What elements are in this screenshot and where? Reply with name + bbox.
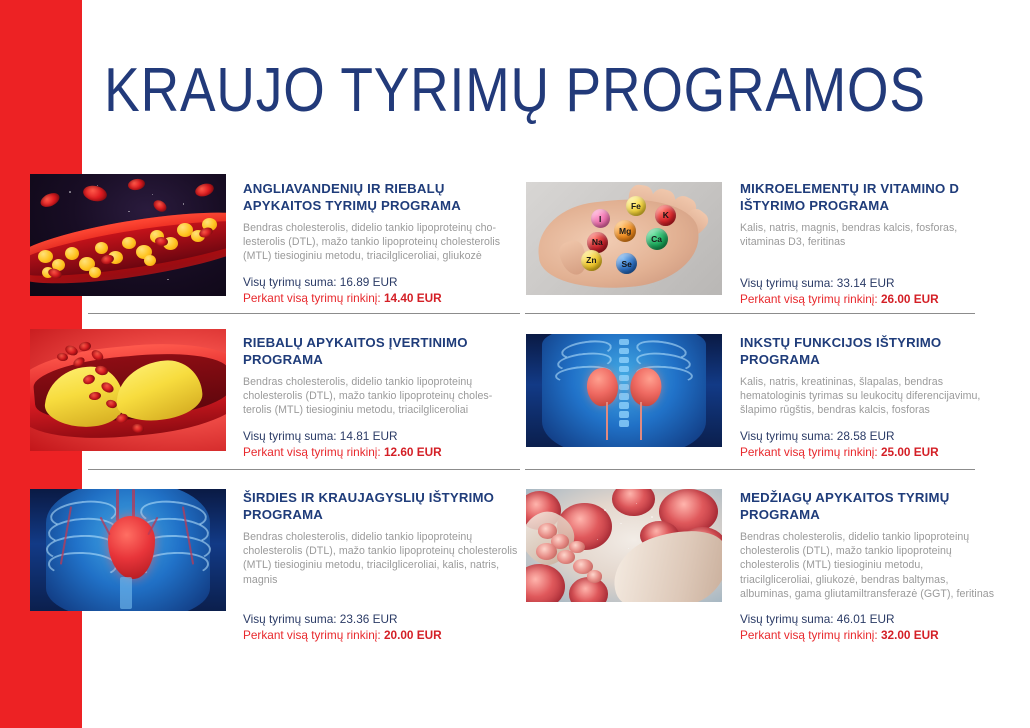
program-total-price: Visų tyrimų suma: 33.14 EUR	[740, 275, 985, 291]
mineral-ball-Fe: Fe	[626, 196, 646, 216]
program-title: INKSTŲ FUNKCIJOS IŠTYRIMO PROGRAMA	[740, 334, 988, 368]
program-thumb-hand-holding-mineral-balls: I Fe K Mg Ca Na Zn Se	[526, 182, 722, 295]
program-bundle-label: Perkant visą tyrimų rinkinį:	[243, 628, 381, 642]
program-prices: Visų tyrimų suma: 23.36 EUR Perkant visą…	[243, 611, 518, 643]
program-prices: Visų tyrimų suma: 33.14 EUR Perkant visą…	[740, 275, 985, 307]
card-divider-left-2	[88, 469, 520, 470]
heart-anatomy-blue-icon	[30, 489, 226, 611]
card-divider-right-2	[525, 469, 975, 470]
red-blood-cells-icon	[526, 489, 722, 602]
poster-page: KRAUJO TYRIMŲ PROGRAMOS	[0, 0, 1030, 728]
program-description: Kalis, natris, kreatininas, šlapalas, be…	[740, 375, 988, 418]
program-total-price: Visų tyrimų suma: 16.89 EUR	[243, 274, 518, 290]
mineral-ball-K: K	[655, 205, 676, 226]
program-description: Bendras cholesterolis, didelio tankio li…	[740, 530, 998, 601]
program-thumb-red-blood-cells	[526, 489, 722, 602]
program-bundle-price: Perkant visą tyrimų rinkinį: 25.00 EUR	[740, 444, 988, 460]
program-title: ŠIRDIES IR KRAUJAGYSLIŲ IŠTYRIMO PROGRAM…	[243, 489, 518, 523]
program-bundle-value: 32.00 EUR	[881, 628, 939, 642]
mineral-ball-I: I	[591, 209, 610, 228]
hand-holding-mineral-balls-icon: I Fe K Mg Ca Na Zn Se	[526, 182, 722, 295]
mineral-ball-Ca: Ca	[646, 228, 668, 250]
program-description: Kalis, natris, magnis, bendras kalcis, f…	[740, 221, 985, 249]
program-bundle-value: 26.00 EUR	[881, 292, 939, 306]
program-bundle-price: Perkant visą tyrimų rinkinį: 20.00 EUR	[243, 627, 518, 643]
program-bundle-price: Perkant visą tyrimų rinkinį: 26.00 EUR	[740, 291, 985, 307]
program-title: MEDŽIAGŲ APYKAITOS TYRIMŲ PROGRAMA	[740, 489, 998, 523]
program-total-price: Visų tyrimų suma: 28.58 EUR	[740, 428, 988, 444]
program-bundle-label: Perkant visą tyrimų rinkinį:	[243, 291, 381, 305]
program-bundle-value: 14.40 EUR	[384, 291, 442, 305]
program-title: RIEBALŲ APYKAITOS ĮVERTINIMO PROGRAMA	[243, 334, 518, 368]
card-divider-right-1	[525, 313, 975, 314]
program-thumb-heart-anatomy-blue	[30, 489, 226, 611]
program-bundle-price: Perkant visą tyrimų rinkinį: 14.40 EUR	[243, 290, 518, 306]
program-description: Bendras cholesterolis, didelio tankio li…	[243, 221, 518, 264]
program-total-price: Visų tyrimų suma: 14.81 EUR	[243, 428, 518, 444]
program-total-price: Visų tyrimų suma: 23.36 EUR	[243, 611, 518, 627]
program-bundle-label: Perkant visą tyrimų rinkinį:	[243, 445, 381, 459]
program-bundle-value: 25.00 EUR	[881, 445, 939, 459]
card-divider-left-1	[88, 313, 520, 314]
program-bundle-price: Perkant visą tyrimų rinkinį: 32.00 EUR	[740, 627, 998, 643]
artery-with-cholesterol-plaque-dark-icon	[30, 174, 226, 296]
program-title: MIKROELEMENTŲ IR VITAMINO D IŠTYRIMO PRO…	[740, 180, 985, 214]
program-bundle-value: 20.00 EUR	[384, 628, 442, 642]
page-title: KRAUJO TYRIMŲ PROGRAMOS	[72, 55, 958, 126]
program-prices: Visų tyrimų suma: 16.89 EUR Perkant visą…	[243, 274, 518, 306]
program-prices: Visų tyrimų suma: 46.01 EUR Perkant visą…	[740, 611, 998, 643]
program-thumb-artery-with-yellow-fat-deposits	[30, 329, 226, 451]
program-description: Bendras cholesterolis, didelio tankio li…	[243, 530, 518, 587]
program-bundle-price: Perkant visą tyrimų rinkinį: 12.60 EUR	[243, 444, 518, 460]
program-bundle-label: Perkant visą tyrimų rinkinį:	[740, 445, 878, 459]
program-bundle-label: Perkant visą tyrimų rinkinį:	[740, 292, 878, 306]
mineral-ball-Zn: Zn	[581, 250, 602, 271]
program-thumb-artery-with-cholesterol-plaque-dark	[30, 174, 226, 296]
program-total-price: Visų tyrimų suma: 46.01 EUR	[740, 611, 998, 627]
program-title: ANGLIAVANDENIŲ IR RIEBALŲ APYKAITOS TYRI…	[243, 180, 518, 214]
program-bundle-value: 12.60 EUR	[384, 445, 442, 459]
program-thumb-kidneys-anatomy-blue	[526, 334, 722, 447]
program-prices: Visų tyrimų suma: 14.81 EUR Perkant visą…	[243, 428, 518, 460]
program-bundle-label: Perkant visą tyrimų rinkinį:	[740, 628, 878, 642]
artery-with-yellow-fat-deposits-icon	[30, 329, 226, 451]
program-description: Bendras cholesterolis, didelio tankio li…	[243, 375, 518, 418]
kidneys-anatomy-blue-icon	[526, 334, 722, 447]
program-prices: Visų tyrimų suma: 28.58 EUR Perkant visą…	[740, 428, 988, 460]
